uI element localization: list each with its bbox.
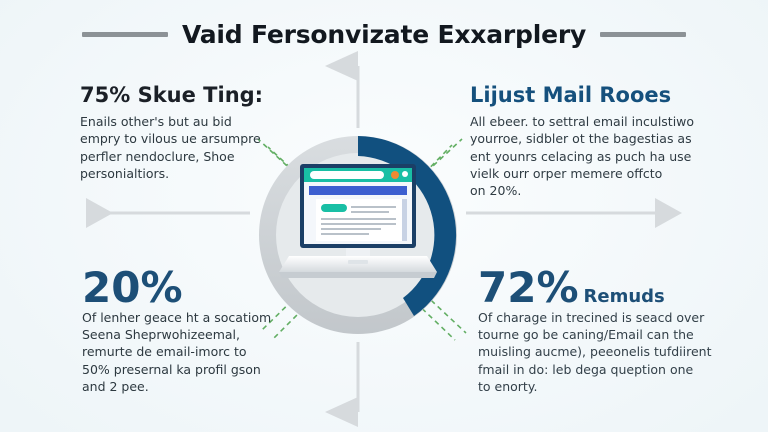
body-line: personialtiors. [80, 165, 326, 182]
big-stat-suffix: Remuds [584, 288, 665, 305]
big-stat-bottom-left: 20% [82, 268, 328, 308]
body-line: and 2 pee. [82, 378, 328, 395]
big-stat-bottom-right: 72% Remuds [478, 268, 724, 308]
body-line: Seena Sheprwohizeemal, [82, 326, 328, 343]
big-stat-value: 20% [82, 268, 183, 308]
stat-heading-top-right: Lijust Mail Rooes [470, 84, 716, 106]
title-rule-right [600, 32, 686, 37]
body-line: empry to vilous ue arsumpre [80, 130, 326, 147]
toolbar-dot-white [402, 171, 408, 177]
toolbar-dot-orange [391, 171, 399, 179]
body-line: on 20%. [470, 182, 716, 199]
teal-cta-button [321, 204, 347, 212]
body-line: remurte de email-imorc to [82, 343, 328, 360]
body-line: yourroe, sidbler ot the bagestias as [470, 130, 716, 147]
blue-title-bar [309, 186, 407, 195]
stat-heading-top-left: 75% Skue Ting: [80, 84, 326, 106]
body-line: tourne go be caning/Email can the [478, 326, 724, 343]
laptop-hinge [346, 248, 370, 256]
stat-block-top-right: Lijust Mail Rooes All ebeer. to settral … [470, 84, 716, 199]
stat-block-bottom-right: 72% Remuds Of charage in trecined is sea… [478, 268, 724, 395]
infographic-canvas: Vaid Fersonvizate Exxarplery [0, 0, 768, 432]
stat-body-top-left: Enails other's but au bid empry to vilou… [80, 113, 326, 182]
title-rule-left [82, 32, 168, 37]
page-title: Vaid Fersonvizate Exxarplery [182, 20, 586, 49]
body-line: Enails other's but au bid [80, 113, 326, 130]
body-line: ent younrs celacing as puch ha use [470, 148, 716, 165]
laptop-trackpad [348, 260, 368, 264]
stat-block-bottom-left: 20% Of lenher geace ht a socatiom Seena … [82, 268, 328, 395]
stat-block-top-left: 75% Skue Ting: Enails other's but au bid… [80, 84, 326, 182]
body-line: Of lenher geace ht a socatiom [82, 309, 328, 326]
body-line: to enorty. [478, 378, 724, 395]
body-line: muisling aucme), peeonelis tufdiirent [478, 343, 724, 360]
stat-body-top-right: All ebeer. to settral email inculstiwo y… [470, 113, 716, 199]
body-line: 50% presernal ka profil gson [82, 361, 328, 378]
title-row: Vaid Fersonvizate Exxarplery [0, 14, 768, 54]
stat-body-bottom-left: Of lenher geace ht a socatiom Seena Shep… [82, 309, 328, 395]
big-stat-value: 72% [478, 268, 579, 308]
body-line: vielk ourr orper memere offcto [470, 165, 716, 182]
body-line: perfler nendoclure, Shoe [80, 148, 326, 165]
body-line: All ebeer. to settral email inculstiwo [470, 113, 716, 130]
stat-body-bottom-right: Of charage in trecined is seacd over tou… [478, 309, 724, 395]
body-line: Of charage in trecined is seacd over [478, 309, 724, 326]
body-line: fmail in do: leb dega queption one [478, 361, 724, 378]
